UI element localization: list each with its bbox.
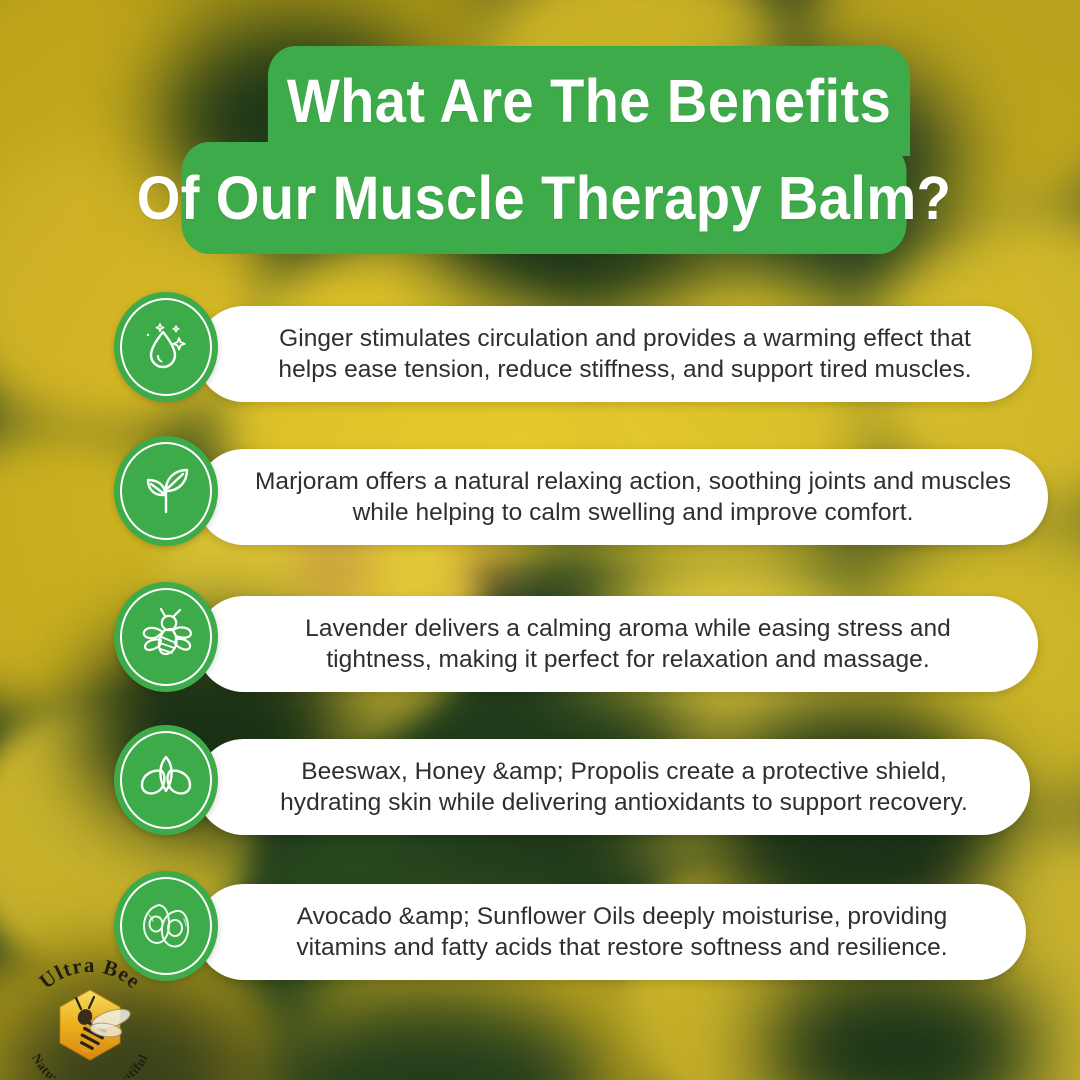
title-line-2-container: Of Our Muscle Therapy Balm?	[182, 142, 907, 254]
benefit-pill: Lavender delivers a calming aroma while …	[196, 596, 1038, 692]
droplet-sparkle-icon	[114, 292, 218, 402]
page-title-line-2: Of Our Muscle Therapy Balm?	[124, 168, 964, 229]
page-title-line-1: What Are The Benefits	[274, 71, 904, 132]
benefit-pill: Avocado &amp; Sunflower Oils deeply mois…	[196, 884, 1026, 980]
benefit-text: Marjoram offers a natural relaxing actio…	[252, 466, 1014, 529]
brand-logo[interactable]: Ultra Bee Naturally Bee Beautiful	[14, 960, 166, 1078]
avocado-glyph	[135, 895, 197, 957]
benefit-pill: Marjoram offers a natural relaxing actio…	[196, 449, 1048, 545]
benefits-list: Ginger stimulates circulation and provid…	[0, 288, 1080, 1013]
benefit-row: Ginger stimulates circulation and provid…	[0, 288, 1080, 433]
benefit-pill: Ginger stimulates circulation and provid…	[196, 306, 1032, 402]
bee-glyph	[135, 606, 197, 668]
infographic-poster: What Are The Benefits Of Our Muscle Ther…	[0, 0, 1080, 1080]
title-block: What Are The Benefits Of Our Muscle Ther…	[0, 46, 1080, 254]
ultra-bee-logo-glyph: Ultra Bee Naturally Bee Beautiful	[14, 960, 166, 1078]
lotus-glyph	[135, 749, 197, 811]
lotus-petals-icon	[114, 725, 218, 835]
benefit-pill: Beeswax, Honey &amp; Propolis create a p…	[196, 739, 1030, 835]
benefit-text: Beeswax, Honey &amp; Propolis create a p…	[252, 756, 996, 819]
droplet-glyph	[135, 316, 197, 378]
title-line-1-container: What Are The Benefits	[268, 46, 910, 156]
leaf-sprout-icon	[114, 436, 218, 546]
leaf-glyph	[135, 460, 197, 522]
benefit-text: Avocado &amp; Sunflower Oils deeply mois…	[252, 901, 992, 964]
benefit-row: Beeswax, Honey &amp; Propolis create a p…	[0, 723, 1080, 868]
benefit-row: Marjoram offers a natural relaxing actio…	[0, 433, 1080, 578]
bee-icon	[114, 582, 218, 692]
avocado-halves-icon	[114, 871, 218, 981]
benefit-row: Lavender delivers a calming aroma while …	[0, 578, 1080, 723]
benefit-text: Lavender delivers a calming aroma while …	[252, 613, 1004, 676]
benefit-text: Ginger stimulates circulation and provid…	[252, 323, 998, 386]
